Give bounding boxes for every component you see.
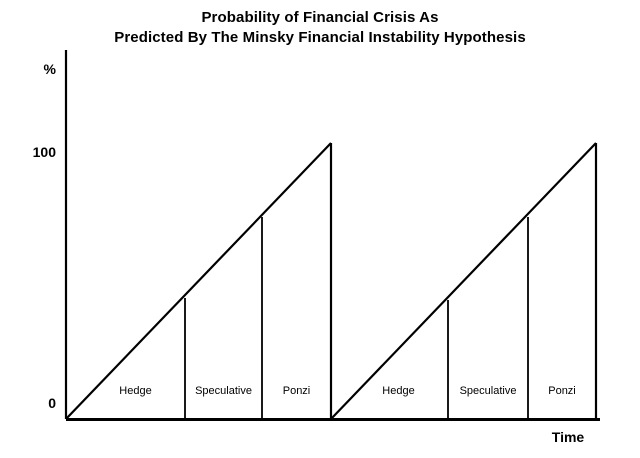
- phase-label-cycle1-speculative: Speculative: [185, 384, 262, 398]
- cycle-1-ramp: [66, 143, 331, 419]
- phase-label-cycle1-ponzi: Ponzi: [262, 384, 331, 398]
- chart-figure: Probability of Financial Crisis As Predi…: [0, 0, 640, 458]
- y-axis-label: %: [26, 61, 56, 77]
- cycle-2-ramp: [331, 143, 596, 419]
- y-tick-label-100: 100: [14, 144, 56, 160]
- y-tick-label-0: 0: [14, 395, 56, 411]
- x-axis-label: Time: [528, 429, 608, 445]
- phase-label-cycle2-ponzi: Ponzi: [528, 384, 596, 398]
- phase-label-cycle1-hedge: Hedge: [86, 384, 185, 398]
- phase-label-cycle2-hedge: Hedge: [349, 384, 448, 398]
- phase-label-cycle2-speculative: Speculative: [448, 384, 528, 398]
